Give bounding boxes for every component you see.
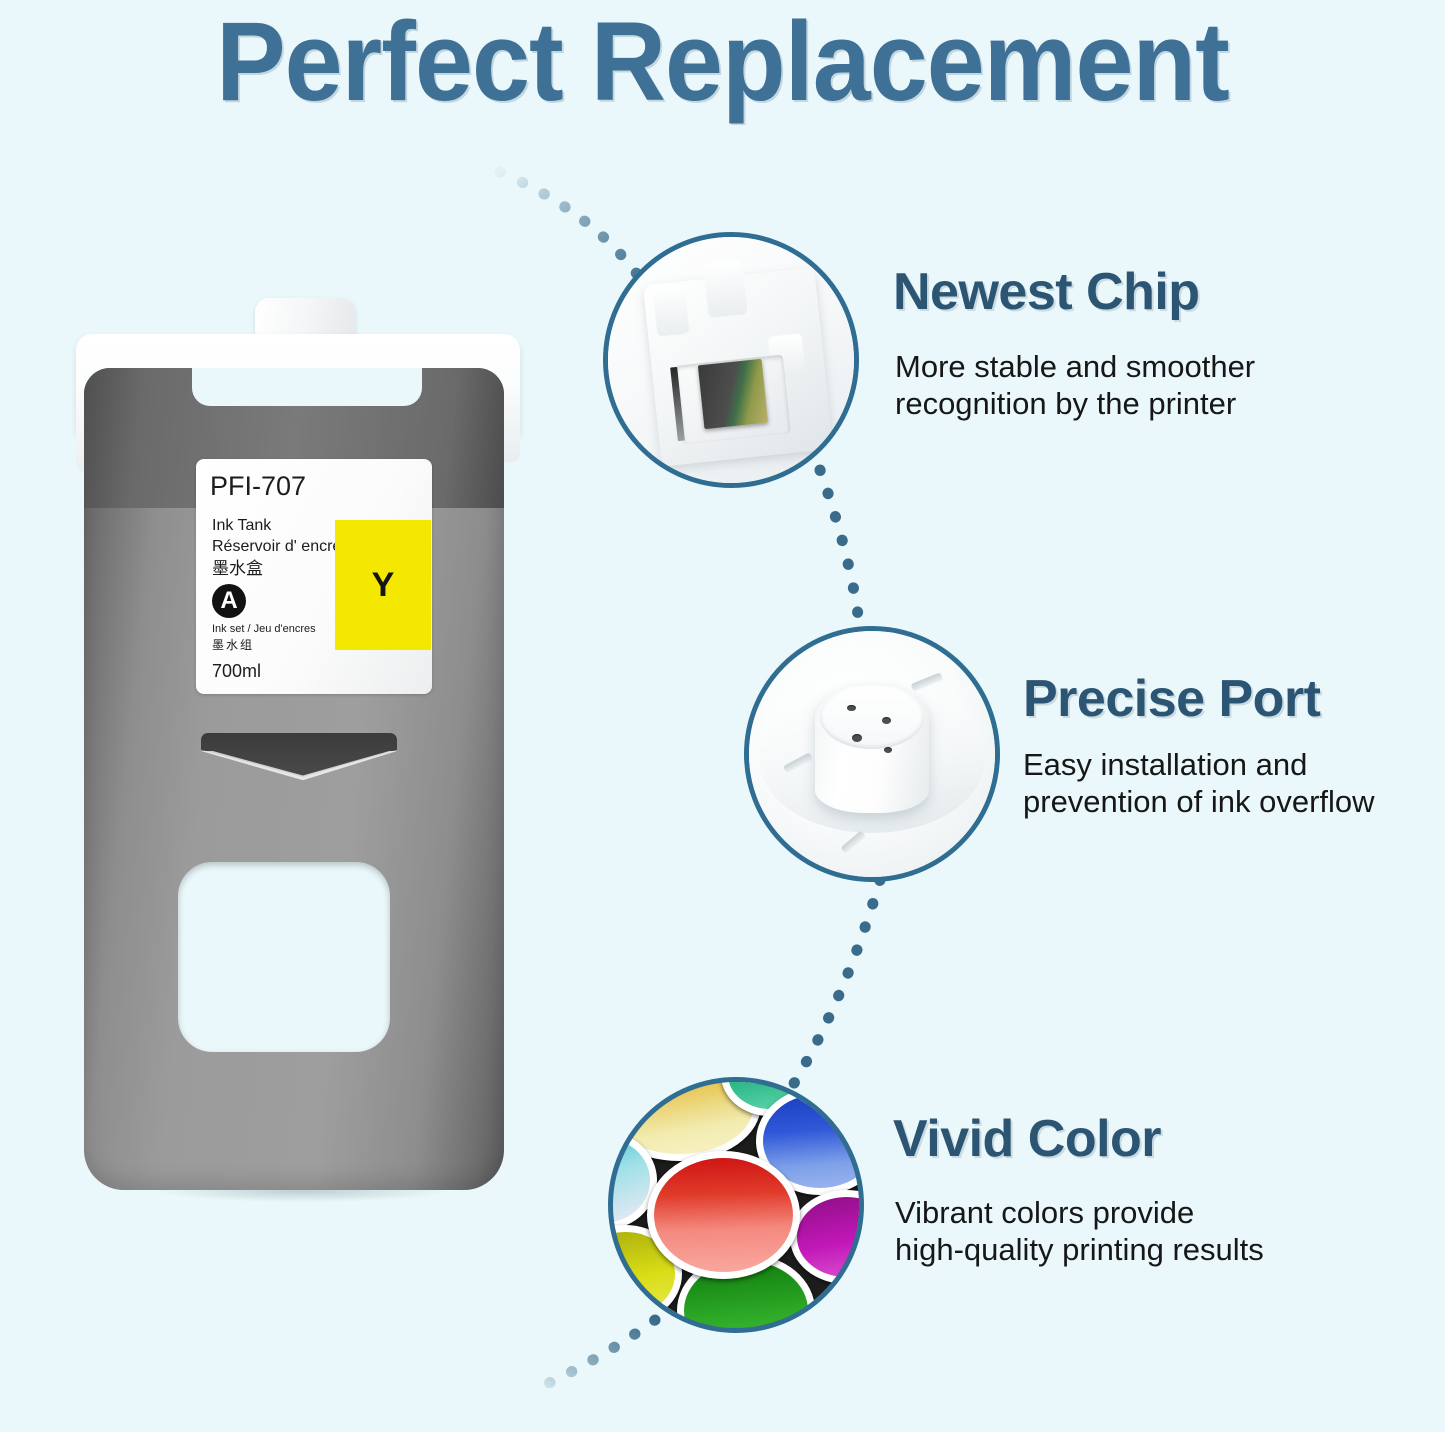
ink-port-icon bbox=[744, 626, 1000, 882]
feature-desc-line2-vivid-color: high-quality printing results bbox=[895, 1231, 1264, 1268]
paint-cans-illustration bbox=[613, 1082, 859, 1328]
chip-tab bbox=[704, 260, 749, 318]
chip-tab bbox=[652, 285, 689, 337]
feature-desc-line1-vivid-color: Vibrant colors provide bbox=[895, 1194, 1194, 1231]
feature-desc-line1-precise-port: Easy installation and bbox=[1023, 746, 1307, 783]
label-ink-set: Ink set / Jeu d'encres 墨水组 bbox=[212, 622, 316, 653]
ink-color-swatch: Y bbox=[335, 520, 431, 650]
ink-color-code: Y bbox=[372, 566, 395, 605]
page-title: Perfect Replacement bbox=[51, 6, 1395, 118]
paint-can bbox=[647, 1151, 800, 1279]
port-top-face bbox=[820, 685, 923, 749]
chip-icon bbox=[603, 232, 859, 488]
chip-illustration bbox=[608, 237, 854, 483]
port-illustration bbox=[749, 631, 995, 877]
port-hole bbox=[884, 747, 892, 753]
cartridge-label: PFI-707 Ink Tank Réservoir d' encre 墨水盒 … bbox=[196, 459, 432, 694]
label-volume: 700ml bbox=[212, 661, 261, 682]
label-ink-tank-fr: Réservoir d' encre bbox=[212, 537, 341, 558]
feature-heading-precise-port: Precise Port bbox=[1023, 672, 1321, 727]
paint-can bbox=[790, 1190, 864, 1283]
label-ink-set-text: Ink set / Jeu d'encres bbox=[212, 622, 316, 637]
label-ink-set-zh: 墨水组 bbox=[212, 637, 316, 653]
ink-cartridge-image: PFI-707 Ink Tank Réservoir d' encre 墨水盒 … bbox=[62, 282, 532, 1222]
label-ink-tank-en: Ink Tank bbox=[212, 516, 341, 537]
label-descriptions: Ink Tank Réservoir d' encre 墨水盒 bbox=[212, 516, 341, 580]
port-slot bbox=[840, 830, 866, 854]
label-model-number: PFI-707 bbox=[210, 471, 306, 502]
feature-heading-vivid-color: Vivid Color bbox=[893, 1112, 1161, 1167]
feature-heading-newest-chip: Newest Chip bbox=[893, 265, 1200, 320]
cartridge-handle-hole bbox=[178, 862, 390, 1052]
feature-desc-line2-newest-chip: recognition by the printer bbox=[895, 385, 1236, 422]
paint-cans-icon bbox=[608, 1077, 864, 1333]
port-slot bbox=[911, 672, 944, 692]
feature-desc-line2-precise-port: prevention of ink overflow bbox=[1023, 783, 1375, 820]
port-hole bbox=[847, 705, 855, 711]
label-ink-tank-zh: 墨水盒 bbox=[212, 558, 341, 580]
ink-set-badge-icon: A bbox=[212, 584, 246, 618]
feature-desc-line1-newest-chip: More stable and smoother bbox=[895, 348, 1255, 385]
chip-die bbox=[698, 359, 768, 429]
